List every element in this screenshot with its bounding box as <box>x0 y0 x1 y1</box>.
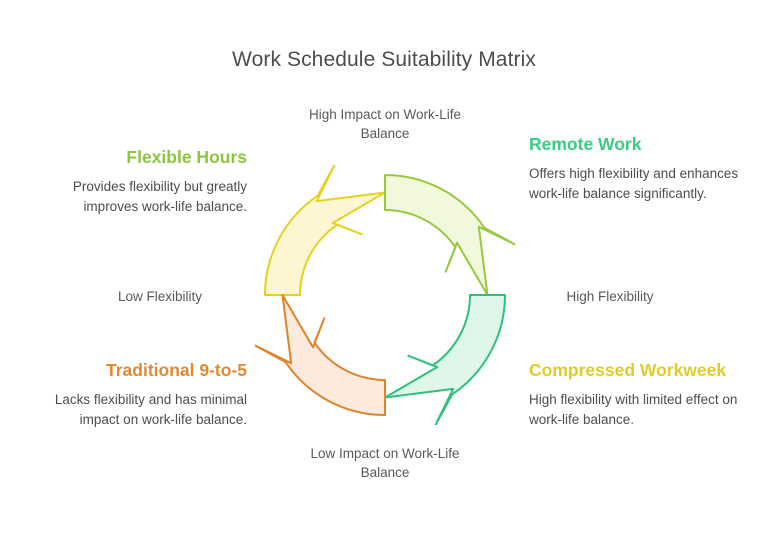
axis-label-right: High Flexibility <box>530 287 690 306</box>
cycle-segment-bottom-left <box>255 295 385 415</box>
quadrant-heading-traditional-9-to-5: Traditional 9-to-5 <box>22 359 247 381</box>
quadrant-body-remote-work: Offers high flexibility and enhances wor… <box>529 164 754 204</box>
quadrant-body-flexible-hours: Provides flexibility but greatly improve… <box>22 177 247 217</box>
quadrant-remote-work: Remote Work Offers high flexibility and … <box>529 133 754 204</box>
cycle-segment-top-left <box>265 165 385 295</box>
quadrant-flexible-hours: Flexible Hours Provides flexibility but … <box>22 146 247 217</box>
axis-label-bottom: Low Impact on Work-Life Balance <box>289 444 481 482</box>
infographic-canvas: Work Schedule Suitability Matrix High Im… <box>0 0 768 542</box>
quadrant-heading-remote-work: Remote Work <box>529 133 754 155</box>
axis-label-left: Low Flexibility <box>80 287 240 306</box>
quadrant-body-traditional-9-to-5: Lacks flexibility and has minimal impact… <box>22 390 247 430</box>
quadrant-heading-flexible-hours: Flexible Hours <box>22 146 247 168</box>
quadrant-compressed-workweek: Compressed Workweek High flexibility wit… <box>529 359 754 430</box>
cycle-arrow-diagram <box>255 165 515 425</box>
axis-label-top: High Impact on Work-Life Balance <box>289 105 481 143</box>
cycle-segment-bottom-right <box>385 295 505 425</box>
quadrant-heading-compressed-workweek: Compressed Workweek <box>529 359 754 381</box>
quadrant-traditional-9-to-5: Traditional 9-to-5 Lacks flexibility and… <box>22 359 247 430</box>
page-title: Work Schedule Suitability Matrix <box>0 48 768 72</box>
cycle-arrow-svg <box>255 165 515 425</box>
quadrant-body-compressed-workweek: High flexibility with limited effect on … <box>529 390 754 430</box>
cycle-segment-group <box>255 165 515 425</box>
cycle-segment-top-right <box>385 175 515 295</box>
